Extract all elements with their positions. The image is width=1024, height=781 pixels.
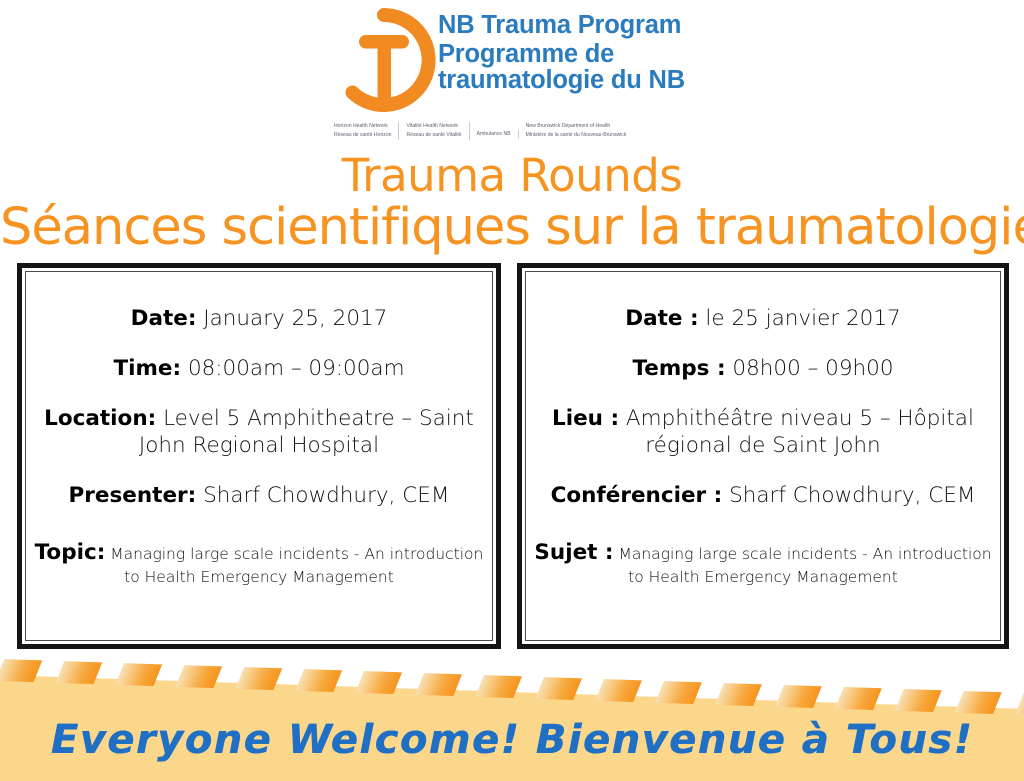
french-row-conferencier: Conférencier : Sharf Chowdhury, CEM	[526, 483, 1000, 509]
nb-trauma-t-in-circle-logo	[332, 8, 436, 112]
logo-wordmark: NB Trauma Program Programme de traumatol…	[438, 12, 704, 93]
french-temps-label: Temps :	[632, 356, 725, 381]
logo-block: NB Trauma Program Programme de traumatol…	[332, 4, 704, 146]
french-lieu-value: Amphithéâtre niveau 5 – Hôpital régional…	[626, 406, 974, 457]
french-row-lieu: Lieu : Amphithéâtre niveau 5 – Hôpital r…	[526, 406, 1000, 458]
logo-text-line-3: traumatologie du NB	[438, 67, 704, 93]
english-date-label: Date:	[131, 306, 197, 331]
french-conferencier-label: Conférencier :	[551, 483, 723, 508]
partner-nb-dept-health: New Brunswick Department of Health Minis…	[519, 122, 634, 140]
page-title-french: Séances scientifiques sur la traumatolog…	[0, 198, 1024, 257]
partner-vitalite: Vitalité Health Network Réseau de santé …	[399, 122, 469, 140]
french-row-date: Date : le 25 janvier 2017	[526, 306, 1000, 332]
french-conferencier-value: Sharf Chowdhury, CEM	[729, 483, 975, 508]
english-date-value: January 25, 2017	[203, 306, 387, 331]
partner-ambulance-nb-en: Ambulance NB	[477, 130, 511, 139]
page-title-english: Trauma Rounds	[0, 149, 1024, 202]
french-temps-value: 08h00 – 09h00	[732, 356, 893, 381]
french-lieu-label: Lieu :	[552, 406, 619, 431]
french-details-inner: Date : le 25 janvier 2017 Temps : 08h00 …	[525, 271, 1001, 641]
partner-ambulance-nb: Ambulance NB	[470, 130, 519, 139]
partner-horizon-en: Horizon Health Network	[334, 122, 391, 131]
english-time-label: Time:	[113, 356, 181, 381]
partner-vitalite-en: Vitalité Health Network	[406, 122, 461, 131]
partner-horizon: Horizon Health Network Réseau de santé H…	[332, 122, 399, 140]
logo-text-line-1: NB Trauma Program	[438, 12, 704, 38]
partner-nb-dept-health-en: New Brunswick Department of Health	[526, 122, 627, 131]
english-row-presenter: Presenter: Sharf Chowdhury, CEM	[26, 483, 492, 509]
partner-horizon-fr: Réseau de santé Horizon	[334, 131, 391, 140]
partner-nb-dept-health-fr: Ministère de la santé du Nouveau-Brunswi…	[526, 131, 627, 140]
logo-text-line-2: Programme de	[438, 41, 704, 67]
french-row-temps: Temps : 08h00 – 09h00	[526, 356, 1000, 382]
english-presenter-value: Sharf Chowdhury, CEM	[203, 483, 449, 508]
french-sujet-value: Managing large scale incidents - An intr…	[618, 545, 991, 586]
english-details-box: Date: January 25, 2017 Time: 08:00am – 0…	[17, 263, 501, 649]
french-row-sujet: Sujet : Managing large scale incidents -…	[526, 539, 1000, 587]
english-time-value: 08:00am – 09:00am	[188, 356, 405, 381]
english-row-location: Location: Level 5 Amphitheatre – Saint J…	[26, 406, 492, 458]
french-details-box: Date : le 25 janvier 2017 Temps : 08h00 …	[517, 263, 1009, 649]
english-row-time: Time: 08:00am – 09:00am	[26, 356, 492, 382]
welcome-banner: Everyone Welcome! Bienvenue à Tous!	[0, 653, 1024, 781]
partner-organizations: Horizon Health Network Réseau de santé H…	[332, 122, 704, 146]
french-sujet-label: Sujet :	[534, 540, 613, 565]
english-location-label: Location:	[44, 406, 156, 431]
english-details-inner: Date: January 25, 2017 Time: 08:00am – 0…	[25, 271, 493, 641]
french-date-label: Date :	[625, 306, 698, 331]
french-date-value: le 25 janvier 2017	[705, 306, 900, 331]
english-topic-value: Managing large scale incidents - An intr…	[110, 545, 483, 586]
welcome-message: Everyone Welcome! Bienvenue à Tous!	[0, 717, 1024, 763]
english-row-date: Date: January 25, 2017	[26, 306, 492, 332]
english-presenter-label: Presenter:	[69, 483, 197, 508]
english-topic-label: Topic:	[35, 540, 106, 565]
logo-header: NB Trauma Program Programme de traumatol…	[0, 4, 1024, 146]
partner-vitalite-fr: Réseau de santé Vitalité	[406, 131, 461, 140]
english-row-topic: Topic: Managing large scale incidents - …	[26, 539, 492, 587]
english-location-value: Level 5 Amphitheatre – Saint John Region…	[139, 406, 474, 457]
